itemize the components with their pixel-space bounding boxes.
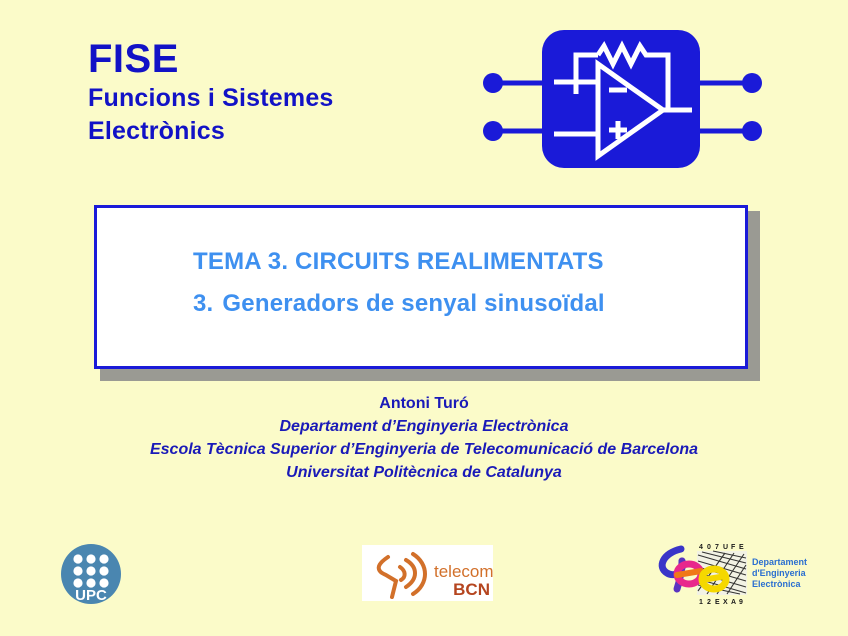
svg-text:X: X <box>723 599 728 606</box>
svg-text:0: 0 <box>707 544 711 551</box>
bcn-label: BCN <box>453 580 490 599</box>
title-card: TEMA 3. CIRCUITS REALIMENTATS 3.Generado… <box>94 205 748 369</box>
upc-logo-icon: UPC <box>57 540 125 608</box>
brand-block: FISE Funcions i Sistemes Electrònics <box>88 36 488 148</box>
brand-acronym: FISE <box>88 36 488 82</box>
brand-subtitle-line-1: Funcions i Sistemes <box>88 82 488 115</box>
author-name: Antoni Turó <box>0 393 848 415</box>
dee-text-line-2: d'Enginyeria <box>752 568 807 578</box>
svg-text:4: 4 <box>699 544 703 551</box>
svg-text:9: 9 <box>739 599 743 606</box>
dee-text-line-1: Departament <box>752 557 807 567</box>
dee-logo-icon: 407 UFE 12E XA9 Departament d'Enginyeria… <box>655 541 815 607</box>
svg-text:A: A <box>731 599 736 606</box>
page-subtitle: 3.Generadors de senyal sinusoïdal <box>193 283 745 325</box>
page-subtitle-number: 3. <box>193 290 213 317</box>
dee-text-line-3: Electrònica <box>752 579 802 589</box>
author-department: Departament d’Enginyeria Electrònica <box>0 415 848 438</box>
title-card-text-group: TEMA 3. CIRCUITS REALIMENTATS 3.Generado… <box>97 241 745 333</box>
author-block: Antoni Turó Departament d’Enginyeria Ele… <box>0 393 848 484</box>
upc-logo-label: UPC <box>75 587 107 604</box>
slide-canvas: FISE Funcions i Sistemes Electrònics <box>0 0 848 636</box>
svg-text:1: 1 <box>699 599 703 606</box>
svg-text:E: E <box>715 599 720 606</box>
brand-subtitle-line-2: Electrònics <box>88 115 488 148</box>
page-subtitle-text: Generadors de senyal sinusoïdal <box>222 290 604 317</box>
svg-text:U: U <box>723 544 728 551</box>
svg-text:E: E <box>739 544 744 551</box>
opamp-circuit-icon <box>480 22 770 174</box>
author-school: Escola Tècnica Superior d’Enginyeria de … <box>0 438 848 461</box>
svg-text:7: 7 <box>715 544 719 551</box>
telecom-bcn-logo-icon: telecom BCN <box>362 545 493 601</box>
page-title: TEMA 3. CIRCUITS REALIMENTATS <box>193 241 745 283</box>
telecom-label: telecom <box>434 562 493 581</box>
author-university: Universitat Politècnica de Catalunya <box>0 461 848 484</box>
svg-text:2: 2 <box>707 599 711 606</box>
svg-text:F: F <box>731 544 736 551</box>
